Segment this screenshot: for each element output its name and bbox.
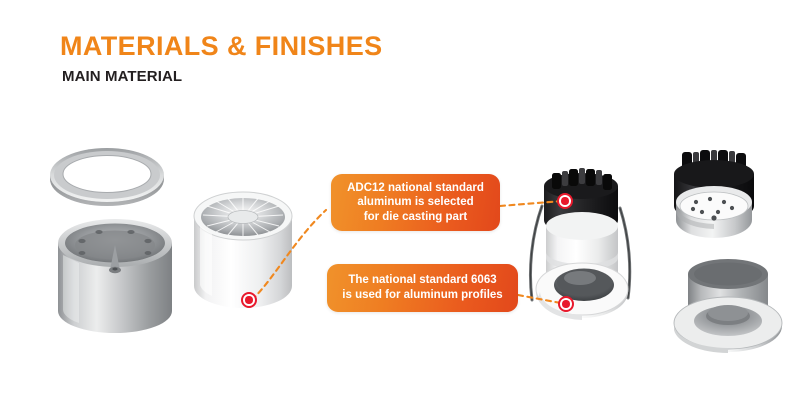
callout-aluminum-profile[interactable]: The national standard 6063 is used for a…: [327, 264, 518, 312]
marker-dot: [562, 300, 569, 307]
target-marker-heatsink-icon[interactable]: [557, 193, 573, 209]
product-recessed-assembly: [516, 168, 641, 353]
callout-aluminum-profile-text: The national standard 6063 is used for a…: [333, 273, 511, 303]
slide-header: MATERIALS & FINISHES MAIN MATERIAL: [60, 30, 383, 87]
page-subtitle: MAIN MATERIAL: [62, 67, 383, 87]
product-aluminum-cup: [672, 258, 792, 378]
slide-canvas: MATERIALS & FINISHES MAIN MATERIAL: [0, 0, 800, 408]
marker-dot: [561, 197, 568, 204]
callout-aluminum-profile-line1: The national standard 6063: [342, 273, 502, 288]
callout-die-casting[interactable]: ADC12 national standard aluminum is sele…: [331, 174, 500, 231]
callout-die-casting-line1: ADC12 national standard: [347, 181, 484, 196]
callout-die-casting-text: ADC12 national standard aluminum is sele…: [338, 181, 493, 225]
target-marker-cylinder-icon[interactable]: [241, 292, 257, 308]
callout-aluminum-profile-line2: is used for aluminum profiles: [342, 288, 502, 303]
target-marker-trim-icon[interactable]: [558, 296, 574, 312]
marker-dot: [245, 296, 252, 303]
callout-die-casting-line2: aluminum is selected: [347, 195, 484, 210]
product-heatsink-module: [660, 150, 780, 265]
product-aluminum-ring: [48, 146, 166, 208]
callout-die-casting-line3: for die casting part: [347, 210, 484, 225]
page-title: MATERIALS & FINISHES: [60, 30, 383, 62]
product-die-cast-housing: [55, 215, 175, 340]
